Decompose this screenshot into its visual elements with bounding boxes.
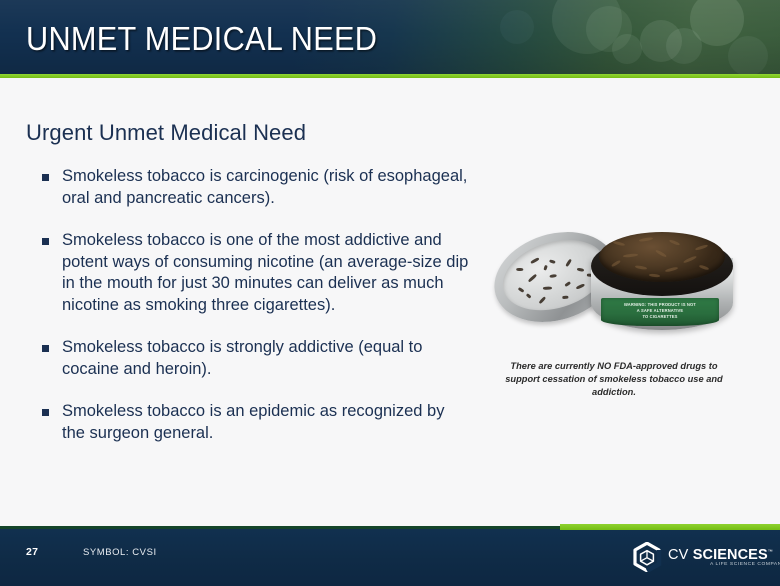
bokeh-circle — [612, 34, 642, 64]
bokeh-circle — [586, 6, 632, 52]
ticker-symbol: SYMBOL: CVSI — [83, 547, 157, 558]
list-item-text: Smokeless tobacco is strongly addictive … — [62, 338, 422, 378]
bokeh-circle — [552, 0, 622, 54]
tin-base: WARNING: THIS PRODUCT IS NOT A SAFE ALTE… — [589, 228, 735, 344]
bokeh-circle — [500, 10, 534, 44]
bullet-square-icon — [42, 238, 49, 245]
trademark-symbol: ™ — [768, 549, 773, 555]
bokeh-circle — [640, 20, 682, 62]
figure-canvas: WARNING: THIS PRODUCT IS NOT A SAFE ALTE… — [485, 222, 737, 350]
logo-wordmark: CV SCIENCES™ — [668, 544, 773, 563]
logo-tagline: A LIFE SCIENCE COMPANY — [710, 562, 780, 567]
bullet-square-icon — [42, 409, 49, 416]
slide-title: UNMET MEDICAL NEED — [26, 19, 377, 59]
bokeh-circle — [728, 36, 768, 76]
list-item: Smokeless tobacco is one of the most add… — [40, 230, 470, 316]
warning-label-line-3: TO CIGARETTES — [601, 313, 719, 320]
warning-label: WARNING: THIS PRODUCT IS NOT A SAFE ALTE… — [601, 298, 719, 326]
company-logo: CV SCIENCES™ A LIFE SCIENCE COMPANY — [632, 540, 766, 574]
bokeh-circle — [666, 28, 702, 64]
slide: UNMET MEDICAL NEED Urgent Unmet Medical … — [0, 0, 780, 586]
logo-word-cv: CV — [668, 547, 693, 563]
logo-word-sciences: SCIENCES — [693, 547, 768, 563]
figure-caption: There are currently NO FDA-approved drug… — [498, 360, 730, 399]
smokeless-tobacco-tin-image: WARNING: THIS PRODUCT IS NOT A SAFE ALTE… — [485, 222, 737, 350]
bullet-list: Smokeless tobacco is carcinogenic (risk … — [40, 166, 470, 444]
bullet-square-icon — [42, 345, 49, 352]
footer-accent-bar — [560, 524, 780, 530]
tobacco-contents — [599, 232, 725, 282]
header-accent-rule — [0, 74, 780, 78]
list-item-text: Smokeless tobacco is an epidemic as reco… — [62, 402, 444, 442]
list-item: Smokeless tobacco is strongly addictive … — [40, 337, 470, 380]
bokeh-circle — [690, 0, 744, 46]
list-item-text: Smokeless tobacco is carcinogenic (risk … — [62, 167, 467, 207]
content-heading: Urgent Unmet Medical Need — [26, 120, 306, 146]
list-item-text: Smokeless tobacco is one of the most add… — [62, 231, 468, 314]
page-number: 27 — [26, 546, 38, 558]
cv-sciences-cube-icon — [632, 542, 662, 572]
list-item: Smokeless tobacco is an epidemic as reco… — [40, 401, 470, 444]
bullet-square-icon — [42, 174, 49, 181]
list-item: Smokeless tobacco is carcinogenic (risk … — [40, 166, 470, 209]
